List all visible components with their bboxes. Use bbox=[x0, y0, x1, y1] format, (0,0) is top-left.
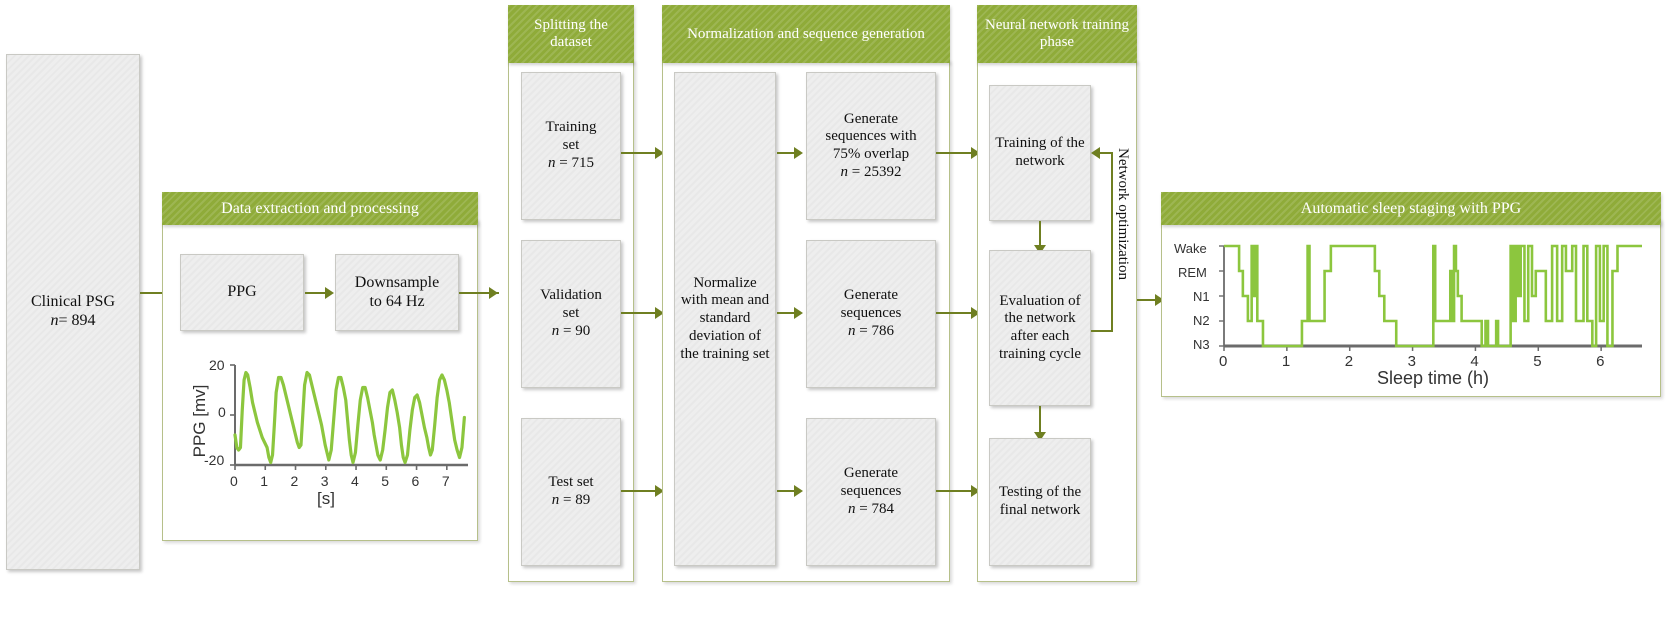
node-gen-val-count: n = 786 bbox=[841, 323, 902, 341]
node-gen-val-line1: Generate bbox=[841, 287, 902, 305]
node-ppg-label: PPG bbox=[223, 281, 260, 304]
arrow-extraction-to-splitting-head bbox=[489, 287, 498, 299]
node-normalize: Normalize with mean and standard deviati… bbox=[674, 72, 776, 566]
node-validation-set-n-value: = 90 bbox=[563, 323, 590, 339]
node-testing-final-network: Testing of the final network bbox=[989, 438, 1091, 566]
node-downsample-line2: to 64 Hz bbox=[355, 293, 439, 312]
ppg-chart-xtick: 5 bbox=[381, 473, 389, 489]
n-italic: n bbox=[548, 155, 556, 171]
panel-normalization-header: Normalization and sequence generation bbox=[662, 5, 950, 63]
panel-splitting-title: Splitting the dataset bbox=[514, 17, 628, 51]
node-test-set-count: n = 89 bbox=[548, 492, 593, 510]
node-gen-test-count: n = 784 bbox=[841, 501, 902, 519]
node-gen-val-line2: sequences bbox=[841, 305, 902, 323]
clinical-psg-count: n= 894 bbox=[31, 312, 115, 331]
ppg-chart-xtick: 0 bbox=[230, 473, 238, 489]
clinical-psg-title: Clinical PSG bbox=[31, 293, 115, 312]
node-validation-set-line2: set bbox=[540, 305, 602, 323]
node-downsample-line1: Downsample bbox=[355, 274, 439, 293]
panel-sleep-staging-title: Automatic sleep staging with PPG bbox=[1301, 200, 1521, 218]
node-validation-set: Validation set n = 90 bbox=[521, 240, 621, 388]
node-training-set: Training set n = 715 bbox=[521, 72, 621, 220]
node-gen-test-line1: Generate bbox=[841, 465, 902, 483]
node-training-set-count: n = 715 bbox=[545, 155, 596, 173]
node-validation-set-line1: Validation bbox=[540, 287, 602, 305]
hypnogram-xlabel: Sleep time (h) bbox=[1224, 368, 1642, 389]
ppg-chart-xlabel: [s] bbox=[178, 489, 474, 509]
panel-data-extraction-title: Data extraction and processing bbox=[221, 200, 419, 218]
node-ppg: PPG bbox=[180, 254, 304, 331]
panel-training-header: Neural network training phase bbox=[977, 5, 1137, 63]
panel-sleep-staging-header: Automatic sleep staging with PPG bbox=[1161, 192, 1661, 225]
n-italic: n bbox=[848, 501, 856, 517]
chart-hypnogram: Wake REM N1 N2 N3 0123456 Sleep time (h) bbox=[1172, 234, 1652, 392]
panel-training-title: Neural network training phase bbox=[983, 17, 1131, 51]
n-italic: n bbox=[552, 492, 560, 508]
ppg-chart-xtick: 4 bbox=[351, 473, 359, 489]
node-training-of-network-text: Training of the network bbox=[990, 133, 1090, 172]
n-italic: n bbox=[552, 323, 560, 339]
node-gen-val-n-value: = 786 bbox=[859, 323, 894, 339]
panel-data-extraction-header: Data extraction and processing bbox=[162, 192, 478, 225]
node-gen-train-n-value: = 25392 bbox=[852, 164, 902, 180]
node-test-set-n-value: = 89 bbox=[563, 492, 590, 508]
arrow-ppg-to-downsample-head bbox=[325, 287, 334, 299]
feedback-loop-top bbox=[1099, 152, 1113, 154]
node-training-of-network: Training of the network bbox=[989, 85, 1091, 221]
node-test-set: Test set n = 89 bbox=[521, 418, 621, 566]
arrow-normalize-to-gen-test-head bbox=[794, 485, 803, 497]
node-validation-set-count: n = 90 bbox=[540, 323, 602, 341]
clinical-psg-box: Clinical PSG n= 894 bbox=[6, 54, 140, 570]
node-gen-train-line1: Generate bbox=[825, 111, 916, 129]
panel-splitting-header: Splitting the dataset bbox=[508, 5, 634, 63]
ppg-chart-xtick: 3 bbox=[321, 473, 329, 489]
n-italic: n bbox=[841, 164, 849, 180]
node-generate-test-sequences: Generate sequences n = 784 bbox=[806, 418, 936, 566]
ppg-chart-xtick: 1 bbox=[260, 473, 268, 489]
n-italic: n bbox=[848, 323, 856, 339]
node-training-set-line2: set bbox=[545, 137, 596, 155]
hypnogram-plot bbox=[1172, 234, 1652, 364]
feedback-loop-vertical bbox=[1111, 152, 1113, 332]
ppg-chart-xtick: 7 bbox=[442, 473, 450, 489]
panel-normalization-title: Normalization and sequence generation bbox=[687, 26, 925, 43]
node-downsample: Downsample to 64 Hz bbox=[335, 254, 459, 331]
node-generate-val-sequences: Generate sequences n = 786 bbox=[806, 240, 936, 388]
node-generate-train-sequences: Generate sequences with 75% overlap n = … bbox=[806, 72, 936, 220]
node-gen-train-count: n = 25392 bbox=[825, 164, 916, 182]
chart-ppg-signal: PPG [mv] 20 0 -20 01234567 [s] bbox=[178, 355, 474, 525]
node-test-set-line1: Test set bbox=[548, 474, 593, 492]
network-optimization-label: Network optimization bbox=[1114, 148, 1131, 280]
node-normalize-text: Normalize with mean and standard deviati… bbox=[675, 273, 775, 365]
clinical-psg-n-value: = 894 bbox=[58, 312, 95, 329]
ppg-chart-xtick: 6 bbox=[412, 473, 420, 489]
node-training-set-line1: Training bbox=[545, 119, 596, 137]
node-evaluation-of-network-text: Evaluation of the network after each tra… bbox=[990, 291, 1090, 366]
node-training-set-n-value: = 715 bbox=[559, 155, 594, 171]
ppg-chart-xtick: 2 bbox=[291, 473, 299, 489]
node-gen-train-line3: 75% overlap bbox=[825, 146, 916, 164]
arrow-normalize-to-gen-train-head bbox=[794, 147, 803, 159]
hypnogram-xticklabels: 0123456 bbox=[1172, 347, 1652, 367]
feedback-loop-arrowhead bbox=[1091, 147, 1100, 159]
arrow-ppg-to-downsample-line bbox=[305, 292, 327, 294]
node-gen-test-n-value: = 784 bbox=[859, 501, 894, 517]
arrow-normalize-to-gen-val-head bbox=[794, 307, 803, 319]
node-gen-train-line2: sequences with bbox=[825, 128, 916, 146]
feedback-loop-bottom bbox=[1091, 330, 1113, 332]
ppg-chart-plot bbox=[178, 355, 474, 485]
node-gen-test-line2: sequences bbox=[841, 483, 902, 501]
node-testing-final-network-text: Testing of the final network bbox=[990, 482, 1090, 521]
node-evaluation-of-network: Evaluation of the network after each tra… bbox=[989, 250, 1091, 406]
ppg-chart-xticklabels: 01234567 bbox=[178, 467, 474, 487]
